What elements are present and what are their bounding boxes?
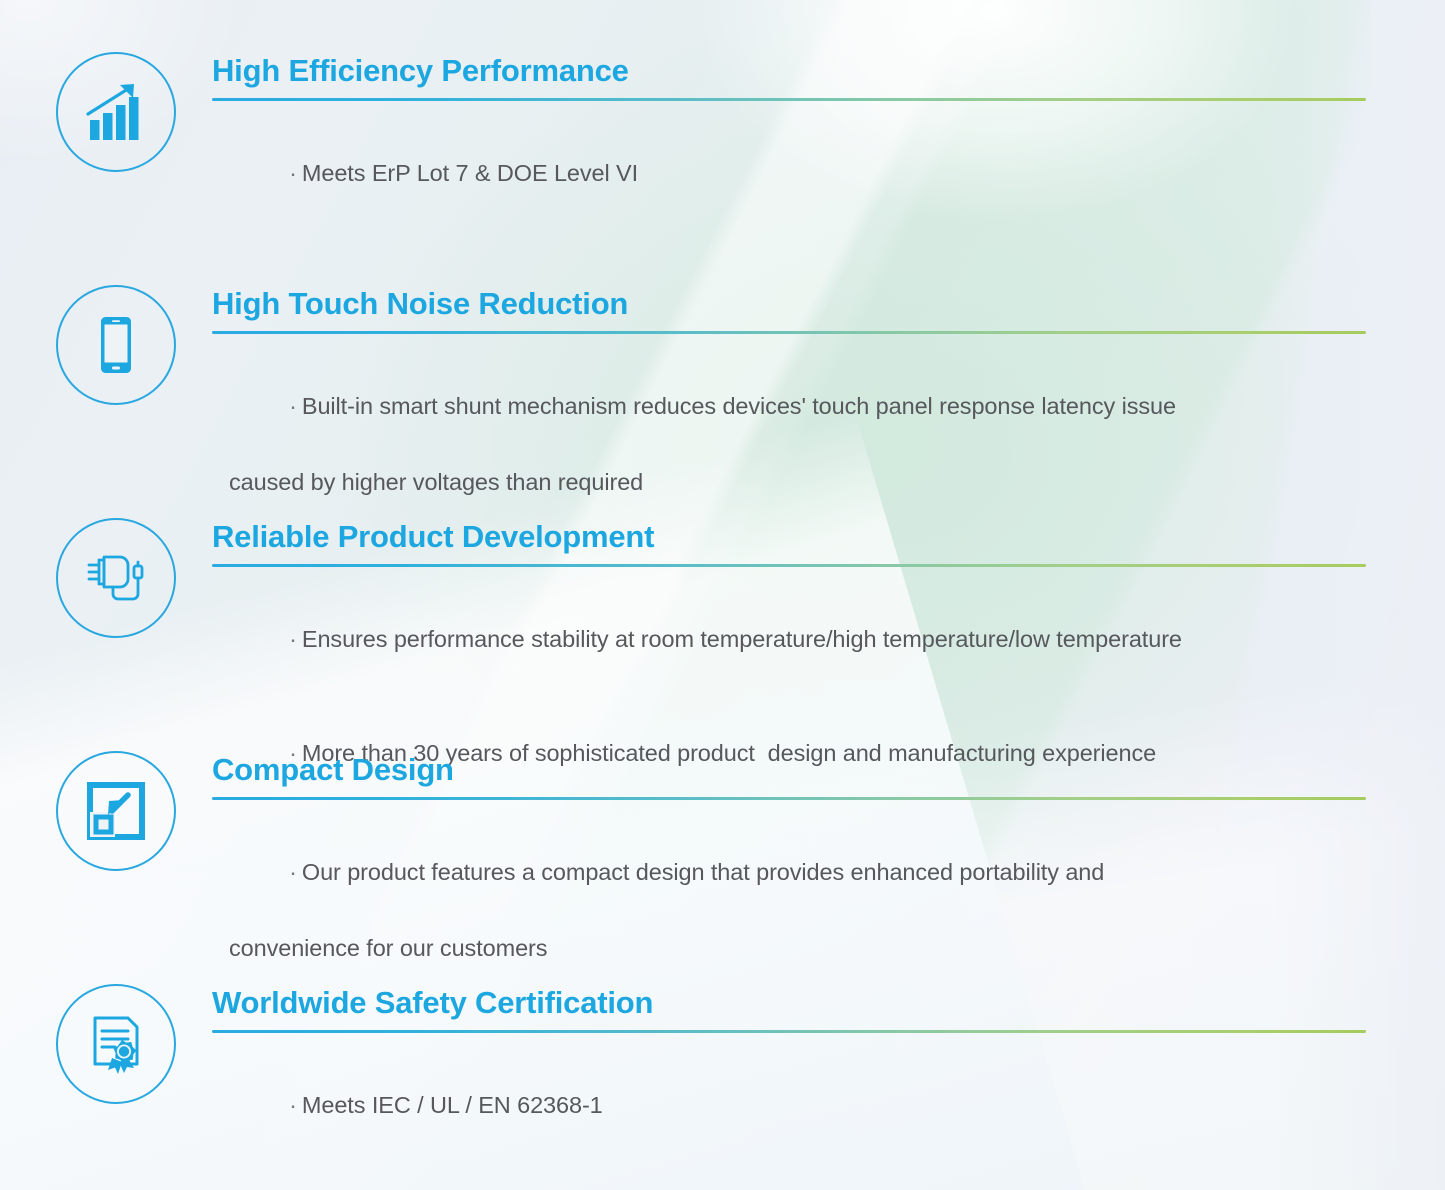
feature-bullets: ·Meets IEC / UL / EN 62368-1 [212,1047,1445,1161]
feature-icon-wrap [56,751,176,871]
feature-title: High Touch Noise Reduction [212,287,1445,320]
feature-title: High Efficiency Performance [212,54,1445,87]
compact-resize-icon [84,779,148,843]
feature-divider-rule [212,98,1366,101]
features-list: High Efficiency Performance ·Meets ErP L… [0,0,1445,1190]
feature-divider-rule [212,331,1366,334]
feature-body: High Efficiency Performance ·Meets ErP L… [212,52,1445,230]
power-adapter-icon [84,546,148,610]
certificate-seal-icon [84,1012,148,1076]
bullet-text: Ensures performance stability at room te… [302,626,1182,652]
bullet-text-continued: caused by higher voltages than required [212,463,1445,501]
bullet-text: Meets ErP Lot 7 & DOE Level VI [302,160,638,186]
bullet-text: Built-in smart shunt mechanism reduces d… [302,393,1176,419]
bullet-text-continued: convenience for our customers [212,929,1445,967]
feature-item-high-efficiency-performance: High Efficiency Performance ·Meets ErP L… [0,52,1445,230]
smartphone-icon [84,313,148,377]
bullet-item: ·Meets IEC / UL / EN 62368-1 [212,1047,1445,1161]
bullet-marker: · [289,393,297,419]
feature-icon-wrap [56,518,176,638]
feature-icon-wrap [56,52,176,172]
feature-icon-wrap [56,285,176,405]
feature-divider-rule [212,1030,1366,1033]
bullet-text: Meets IEC / UL / EN 62368-1 [302,1092,603,1118]
bullet-marker: · [289,160,297,186]
feature-title: Compact Design [212,753,1445,786]
bullet-marker: · [289,1092,297,1118]
bullet-text: Our product features a compact design th… [302,859,1104,885]
bullet-marker: · [289,626,297,652]
feature-item-worldwide-safety-certification: Worldwide Safety Certification ·Meets IE… [0,984,1445,1162]
bullet-item: ·Ensures performance stability at room t… [212,581,1445,695]
feature-highlights-page: High Efficiency Performance ·Meets ErP L… [0,0,1445,1190]
bullet-marker: · [289,859,297,885]
feature-divider-rule [212,564,1366,567]
bar-chart-growth-icon [84,80,148,144]
feature-title: Worldwide Safety Certification [212,986,1445,1019]
feature-divider-rule [212,797,1366,800]
feature-body: Worldwide Safety Certification ·Meets IE… [212,984,1445,1162]
feature-bullets: ·Meets ErP Lot 7 & DOE Level VI [212,115,1445,229]
feature-icon-wrap [56,984,176,1104]
bullet-item: ·Meets ErP Lot 7 & DOE Level VI [212,115,1445,229]
feature-title: Reliable Product Development [212,520,1445,553]
